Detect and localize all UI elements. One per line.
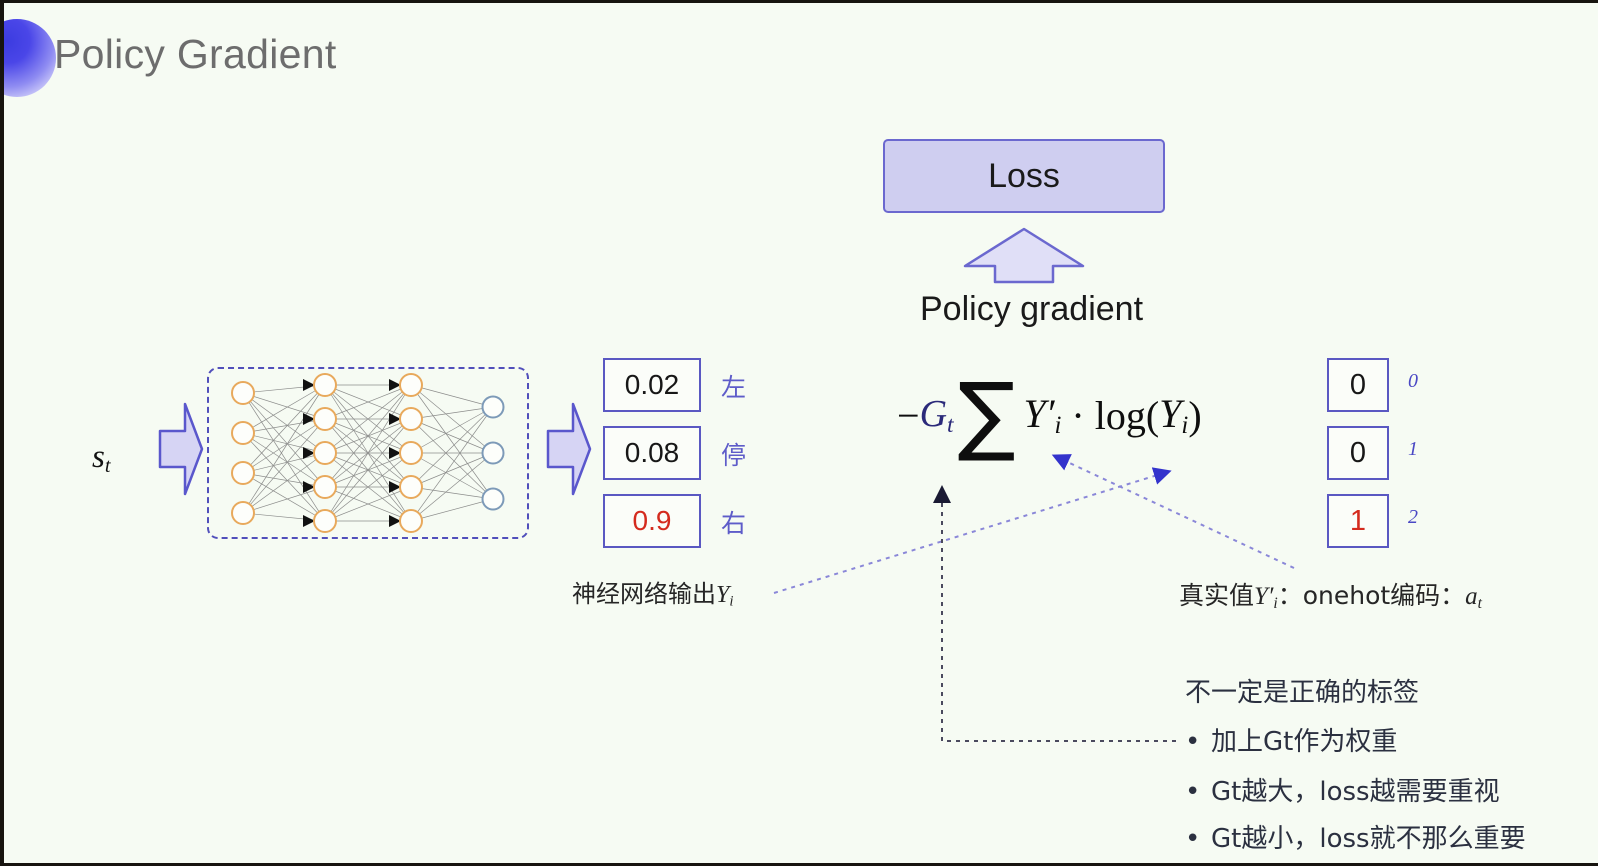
action-label-0: 左	[721, 368, 746, 404]
policy-gradient-caption: Policy gradient	[920, 290, 1143, 329]
formula-gt: Gt	[920, 392, 954, 439]
formula-minus: −	[897, 392, 920, 439]
onehot-index-1: 1	[1408, 438, 1418, 461]
probability-box-2: 0.9	[603, 494, 701, 548]
bullet-marker-icon: •	[1185, 824, 1211, 854]
bullet-marker-icon: •	[1185, 727, 1211, 757]
neural-network-diagram	[207, 367, 529, 539]
nn-node-0-1	[232, 422, 254, 444]
connector-gt-weight	[942, 493, 1176, 741]
connector-truth-to-ytrue	[1059, 458, 1294, 568]
input-arrow-icon	[157, 401, 205, 497]
formula-dot: ·	[1071, 392, 1084, 439]
nn-node-3-1	[483, 443, 504, 464]
notes-heading: 不一定是正确的标签	[1185, 672, 1419, 709]
nn-node-2-4	[400, 510, 422, 532]
nn-node-3-0	[483, 397, 504, 418]
bullet-marker-icon: •	[1185, 777, 1211, 807]
state-label: st	[92, 439, 111, 478]
nn-node-0-3	[232, 502, 254, 524]
probability-box-1: 0.08	[603, 426, 701, 480]
formula-y-true: Y′i	[1024, 390, 1062, 440]
formula-log-open: log(	[1095, 392, 1159, 439]
formula-y-pred: Yi	[1159, 390, 1188, 440]
notes-bullet-1: •Gt越大，loss越需要重视	[1185, 771, 1500, 808]
onehot-index-0: 0	[1408, 370, 1418, 393]
onehot-box-0: 0	[1327, 358, 1389, 412]
probability-box-0: 0.02	[603, 358, 701, 412]
nn-node-1-2	[314, 442, 336, 464]
loss-formula: −Gt∑Y′i · log(Yi)	[897, 385, 1202, 445]
action-label-1: 停	[721, 436, 746, 472]
nn-node-2-1	[400, 408, 422, 430]
formula-log-close: )	[1188, 392, 1201, 439]
truth-value-annotation: 真实值Y′i：onehot编码：at	[1179, 576, 1482, 613]
nn-node-2-2	[400, 442, 422, 464]
up-arrow-icon	[961, 226, 1087, 284]
title-bullet-circle-icon	[0, 19, 56, 97]
onehot-box-1: 0	[1327, 426, 1389, 480]
nn-node-3-2	[483, 489, 504, 510]
notes-bullet-0: •加上Gt作为权重	[1185, 721, 1397, 758]
nn-node-0-0	[232, 382, 254, 404]
bullet-text: Gt越小，loss就不那么重要	[1211, 824, 1526, 854]
bullet-text: Gt越大，loss越需要重视	[1211, 777, 1500, 807]
nn-node-2-0	[400, 374, 422, 396]
nn-node-0-2	[232, 462, 254, 484]
loss-label: Loss	[988, 157, 1060, 196]
output-arrow-icon	[545, 401, 593, 497]
onehot-box-2: 1	[1327, 494, 1389, 548]
notes-bullet-2: •Gt越小，loss就不那么重要	[1185, 818, 1526, 855]
nn-node-1-0	[314, 374, 336, 396]
onehot-index-2: 2	[1408, 506, 1418, 529]
nn-node-2-3	[400, 476, 422, 498]
bullet-text: 加上Gt作为权重	[1211, 727, 1397, 757]
nn-node-1-4	[314, 510, 336, 532]
page-title: Policy Gradient	[54, 31, 337, 78]
nn-node-1-3	[314, 476, 336, 498]
action-label-2: 右	[721, 504, 746, 540]
loss-box: Loss	[883, 139, 1165, 213]
network-output-annotation: 神经网络输出Yi	[572, 574, 734, 611]
connector-output-to-logy	[774, 473, 1164, 593]
slide-canvas: Policy Gradient Loss Policy gradient st …	[0, 0, 1598, 866]
formula-sigma: ∑	[958, 385, 1016, 445]
nn-node-1-1	[314, 408, 336, 430]
